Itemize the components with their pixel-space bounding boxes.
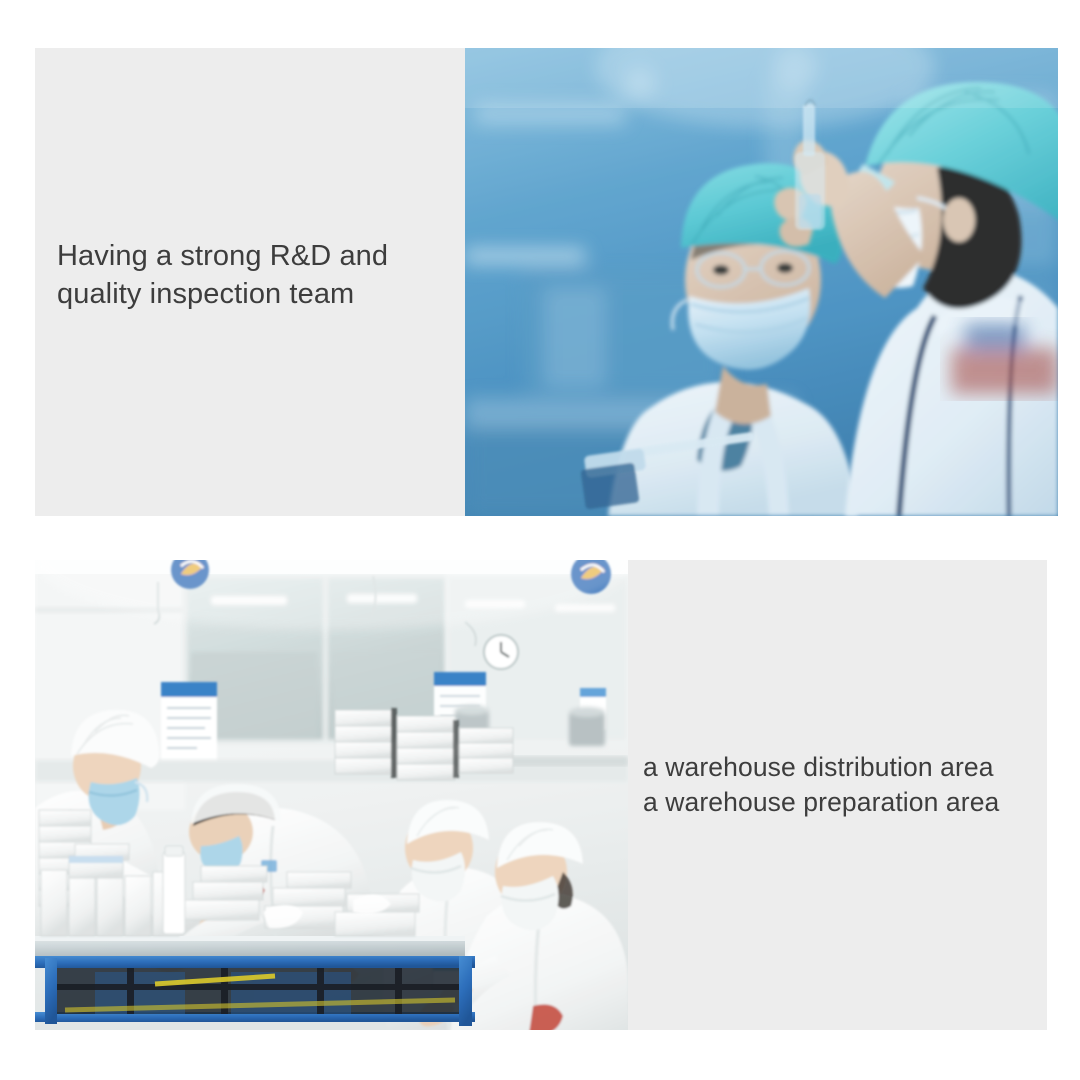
top-section: Having a strong R&D and quality inspecti… bbox=[0, 0, 1080, 540]
top-caption-line-2: quality inspection team bbox=[57, 276, 457, 314]
warehouse-photo-graphic bbox=[35, 560, 628, 1030]
bottom-caption: a warehouse distribution area a warehous… bbox=[643, 750, 1053, 820]
bottom-caption-line-2: a warehouse preparation area bbox=[643, 785, 1053, 820]
top-caption: Having a strong R&D and quality inspecti… bbox=[57, 238, 457, 313]
bottom-section: a warehouse distribution area a warehous… bbox=[0, 540, 1080, 1080]
lab-photo-graphic bbox=[465, 48, 1058, 516]
laboratory-quality-inspection-photo bbox=[465, 48, 1058, 516]
bottom-caption-line-1: a warehouse distribution area bbox=[643, 750, 1053, 785]
top-caption-line-1: Having a strong R&D and bbox=[57, 238, 457, 276]
warehouse-packing-area-photo bbox=[35, 560, 628, 1030]
